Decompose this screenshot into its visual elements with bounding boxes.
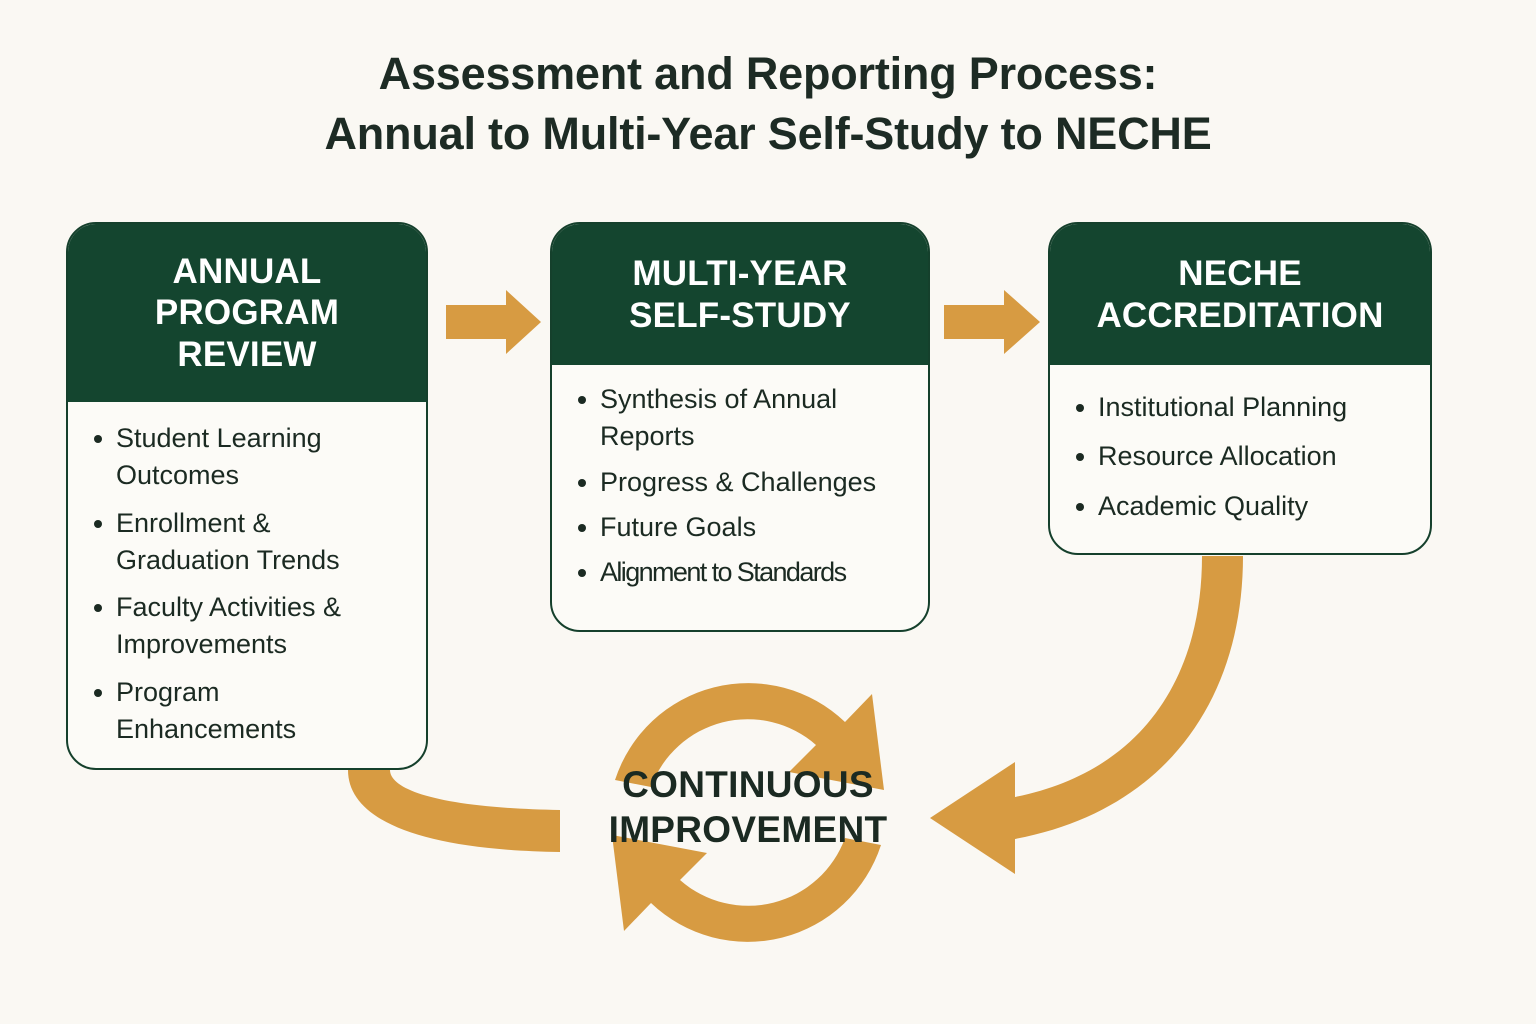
stage-card-multi-year-self-study[interactable]: MULTI-YEAR SELF-STUDY Synthesis of Annua… [550,222,930,632]
list-item: Student Learning Outcomes [86,420,406,495]
list-item: Future Goals [570,509,908,546]
page-title-line-1: Assessment and Reporting Process: [0,44,1536,104]
list-item: Program Enhancements [86,674,406,749]
list-item: Alignment to Standards [570,554,908,591]
list-item: Progress & Challenges [570,464,908,501]
arrow-neche-to-cycle-icon [930,556,1243,874]
stage-header-line-1: NECHE [1096,253,1383,295]
stage-bullet-list-annual: Student Learning Outcomes Enrollment & G… [86,420,406,748]
page-title: Assessment and Reporting Process: Annual… [0,44,1536,164]
stage-header-line-3: REVIEW [155,334,339,376]
page-title-line-2: Annual to Multi-Year Self-Study to NECHE [0,104,1536,164]
stage-header-line-1: MULTI-YEAR [629,253,851,295]
stage-header-line-2: ACCREDITATION [1096,295,1383,337]
arrow-cycle-to-annual-icon [348,770,560,852]
stage-header-line-2: PROGRAM [155,292,339,334]
continuous-improvement-label: CONTINUOUS IMPROVEMENT [568,762,928,852]
stage-header-multi-year-self-study: MULTI-YEAR SELF-STUDY [552,224,928,365]
list-item: Institutional Planning [1068,389,1410,426]
list-item: Faculty Activities & Improvements [86,589,406,664]
arrow-selfstudy-to-neche-icon [944,290,1040,354]
arrow-annual-to-selfstudy-icon [446,290,541,354]
stage-body-neche-accreditation: Institutional Planning Resource Allocati… [1050,365,1430,553]
cycle-label-line-1: CONTINUOUS [568,762,928,807]
stage-body-annual-program-review: Student Learning Outcomes Enrollment & G… [68,402,426,768]
stage-header-line-2: SELF-STUDY [629,295,851,337]
stage-bullet-list-selfstudy: Synthesis of Annual Reports Progress & C… [570,381,908,591]
cycle-label-line-2: IMPROVEMENT [568,807,928,852]
list-item: Enrollment & Graduation Trends [86,505,406,580]
diagram-canvas: Assessment and Reporting Process: Annual… [0,0,1536,1024]
stage-bullet-list-neche: Institutional Planning Resource Allocati… [1068,389,1410,525]
stage-header-line-1: ANNUAL [155,251,339,293]
stage-header-annual-program-review: ANNUAL PROGRAM REVIEW [68,224,426,402]
list-item: Academic Quality [1068,488,1410,525]
stage-card-annual-program-review[interactable]: ANNUAL PROGRAM REVIEW Student Learning O… [66,222,428,770]
stage-card-neche-accreditation[interactable]: NECHE ACCREDITATION Institutional Planni… [1048,222,1432,555]
stage-header-neche-accreditation: NECHE ACCREDITATION [1050,224,1430,365]
list-item: Resource Allocation [1068,438,1410,475]
stage-body-multi-year-self-study: Synthesis of Annual Reports Progress & C… [552,365,928,630]
list-item: Synthesis of Annual Reports [570,381,908,456]
